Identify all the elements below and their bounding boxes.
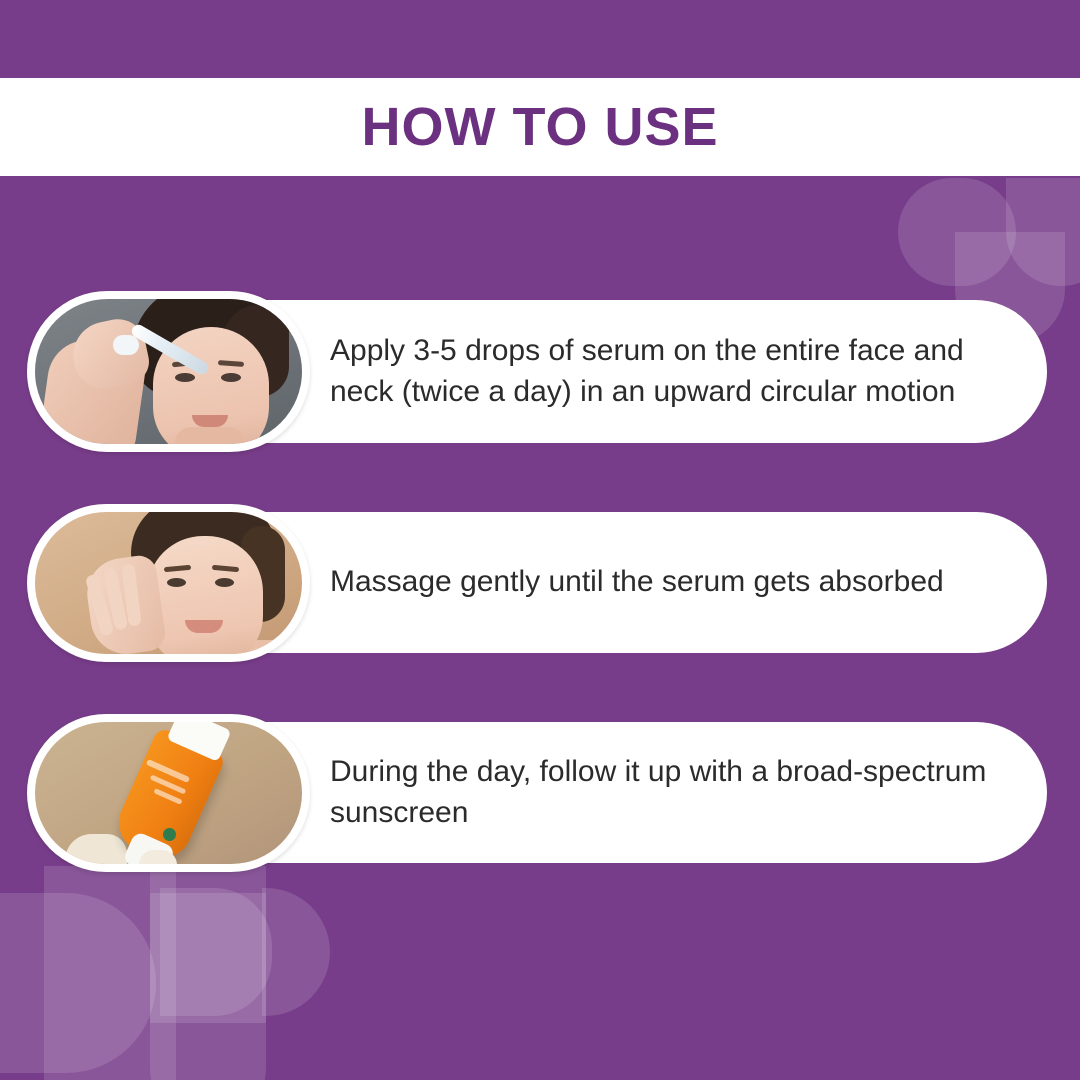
how-to-use-poster: HOW TO USE — [0, 0, 1080, 1080]
dropper-bulb-shape — [113, 335, 139, 355]
eye-left-shape — [175, 373, 195, 382]
step-3-thumbnail-frame — [27, 714, 310, 872]
eye-left-shape — [167, 578, 186, 587]
eye-right-shape — [221, 373, 241, 382]
cream-blob-shape — [65, 834, 127, 864]
step-card-2: Massage gently until the serum gets abso… — [30, 512, 1047, 653]
neck-shape — [175, 427, 245, 444]
woman-massaging-face-photo — [35, 512, 302, 654]
step-1-thumbnail-frame — [27, 291, 310, 452]
step-card-1: Apply 3-5 drops of serum on the entire f… — [30, 300, 1047, 443]
header-band: HOW TO USE — [0, 78, 1080, 176]
step-3-text: During the day, follow it up with a broa… — [330, 752, 995, 832]
step-2-text: Massage gently until the serum gets abso… — [330, 562, 944, 602]
woman-applying-serum-dropper-photo — [35, 299, 302, 444]
step-1-text: Apply 3-5 drops of serum on the entire f… — [330, 331, 995, 411]
step-card-3: During the day, follow it up with a broa… — [30, 722, 1047, 863]
step-2-thumbnail-frame — [27, 504, 310, 662]
orange-sunscreen-tube-photo — [35, 722, 302, 864]
page-title: HOW TO USE — [361, 100, 718, 154]
eye-right-shape — [215, 578, 234, 587]
